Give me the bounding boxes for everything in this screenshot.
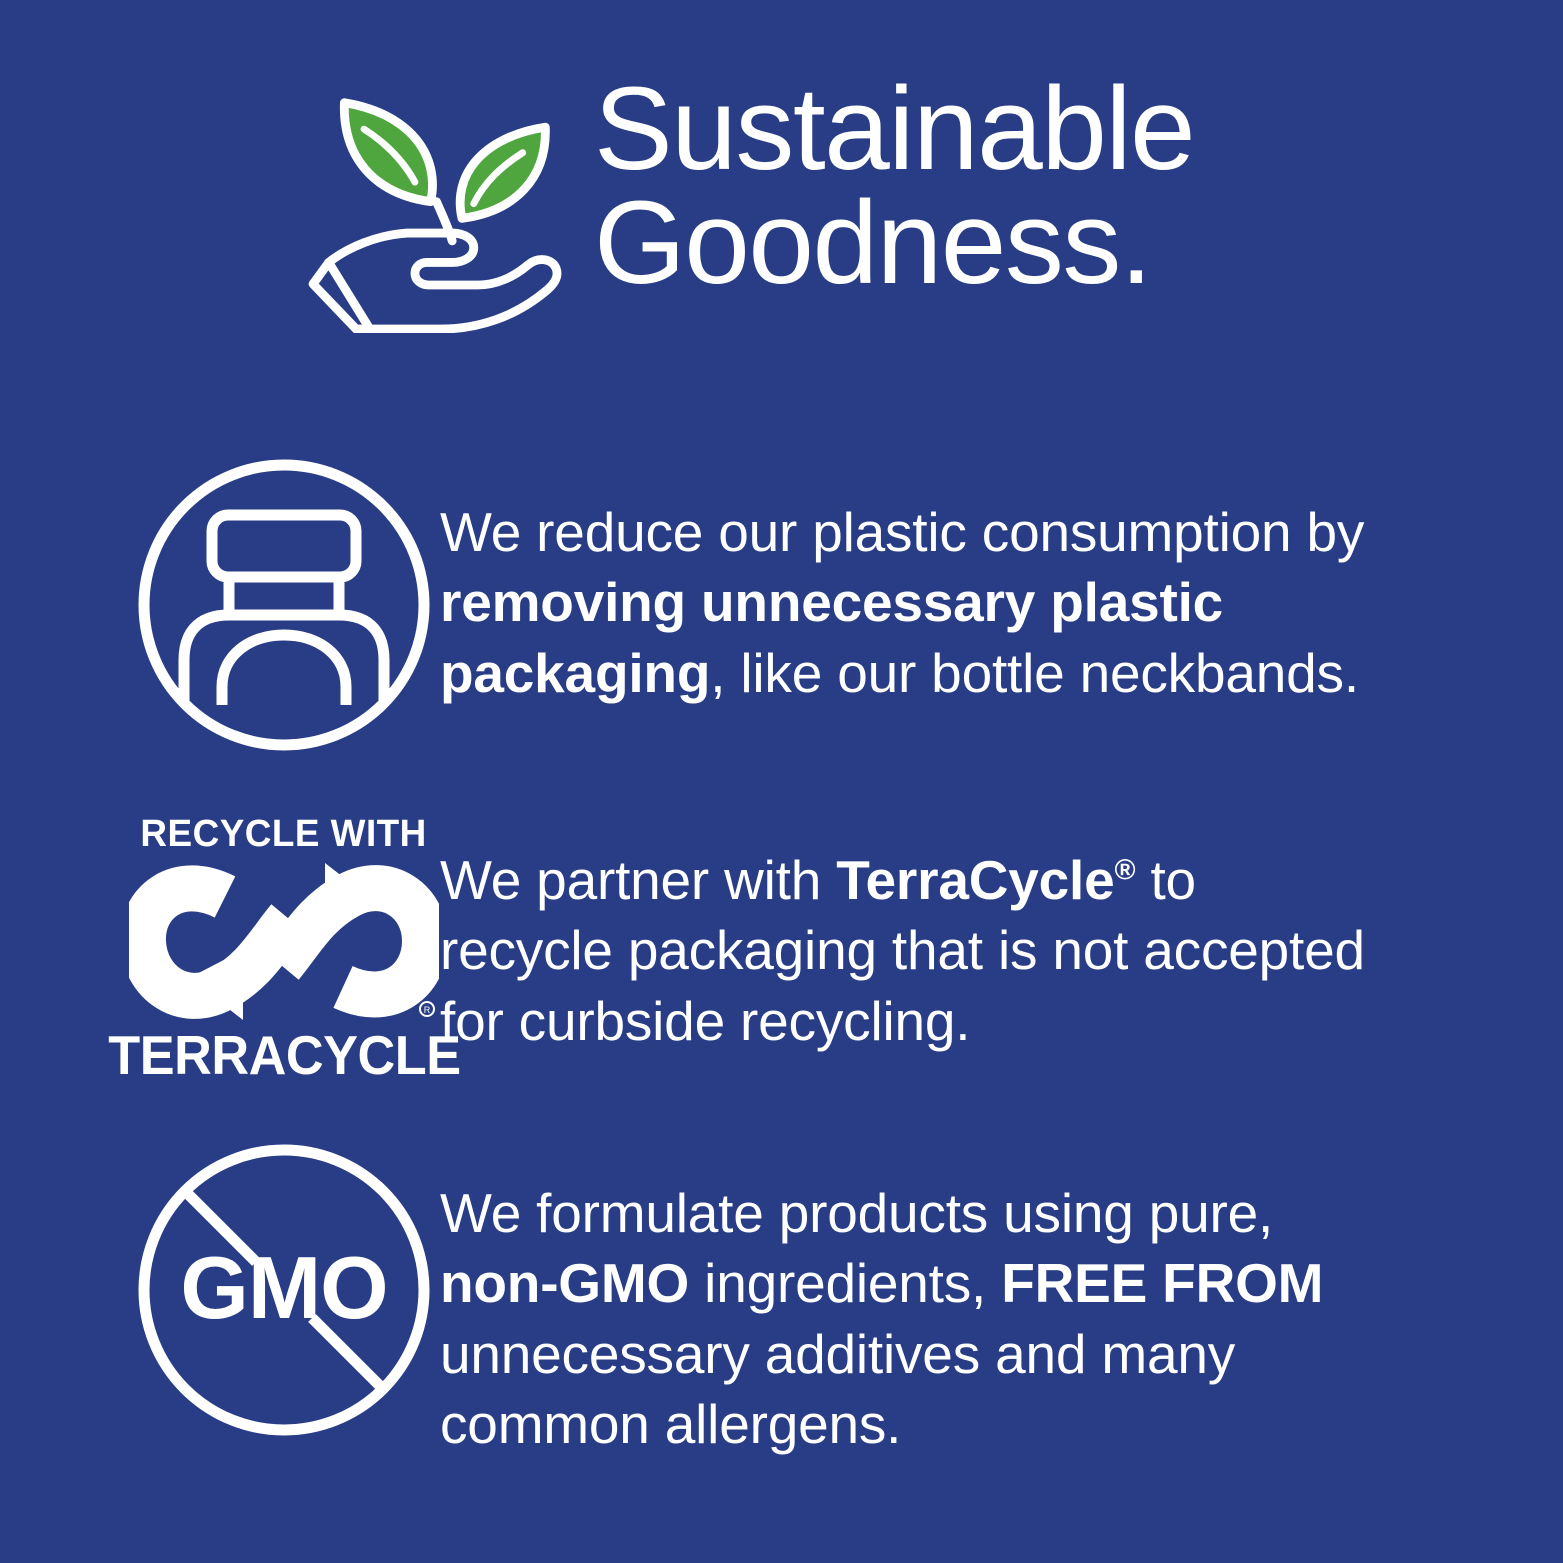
no-gmo-circle-icon: GMO [0,1140,440,1440]
hand-holding-seedling-icon [305,88,570,333]
text-part-bold: FREE FROM [1001,1252,1323,1314]
text-part: unnecessary additives and many common al… [440,1323,1235,1455]
sustainability-infographic: Sustainable Goodness. We reduce our plas… [0,0,1563,1563]
bottle-neckband-circle-icon [0,455,440,755]
svg-text:GMO: GMO [180,1238,387,1337]
terracycle-bottom-label: TERRACYCLE [108,1028,460,1083]
header: Sustainable Goodness. [305,80,1485,333]
text-part-bold: non-GMO [440,1252,689,1314]
registered-mark: ® [1115,855,1136,887]
terracycle-top-label: RECYCLE WITH [141,815,427,853]
feature-row-terracycle: RECYCLE WITH [0,815,1563,1083]
feature-text-terracycle: We partner with TerraCycle® to recycle p… [440,845,1370,1056]
page-title: Sustainable Goodness. [594,72,1194,301]
svg-text:R: R [424,1005,431,1015]
text-part: We formulate products using pure, [440,1182,1273,1244]
text-part: We partner with [440,849,836,911]
text-part: ingredients, [689,1252,1001,1314]
feature-row-plastic-reduction: We reduce our plastic consumption by rem… [0,455,1563,755]
terracycle-logo: RECYCLE WITH [0,815,440,1083]
feature-row-non-gmo: GMO We formulate products using pure, no… [0,1140,1563,1460]
infinity-recycle-arrows-icon: R [129,859,439,1024]
feature-text-plastic-reduction: We reduce our plastic consumption by rem… [440,497,1400,708]
text-part: , like our bottle neckbands. [710,642,1359,704]
text-part-bold: TerraCycle [836,849,1114,911]
text-part: We reduce our plastic consumption by [440,501,1364,563]
feature-text-non-gmo: We formulate products using pure, non-GM… [440,1178,1390,1460]
